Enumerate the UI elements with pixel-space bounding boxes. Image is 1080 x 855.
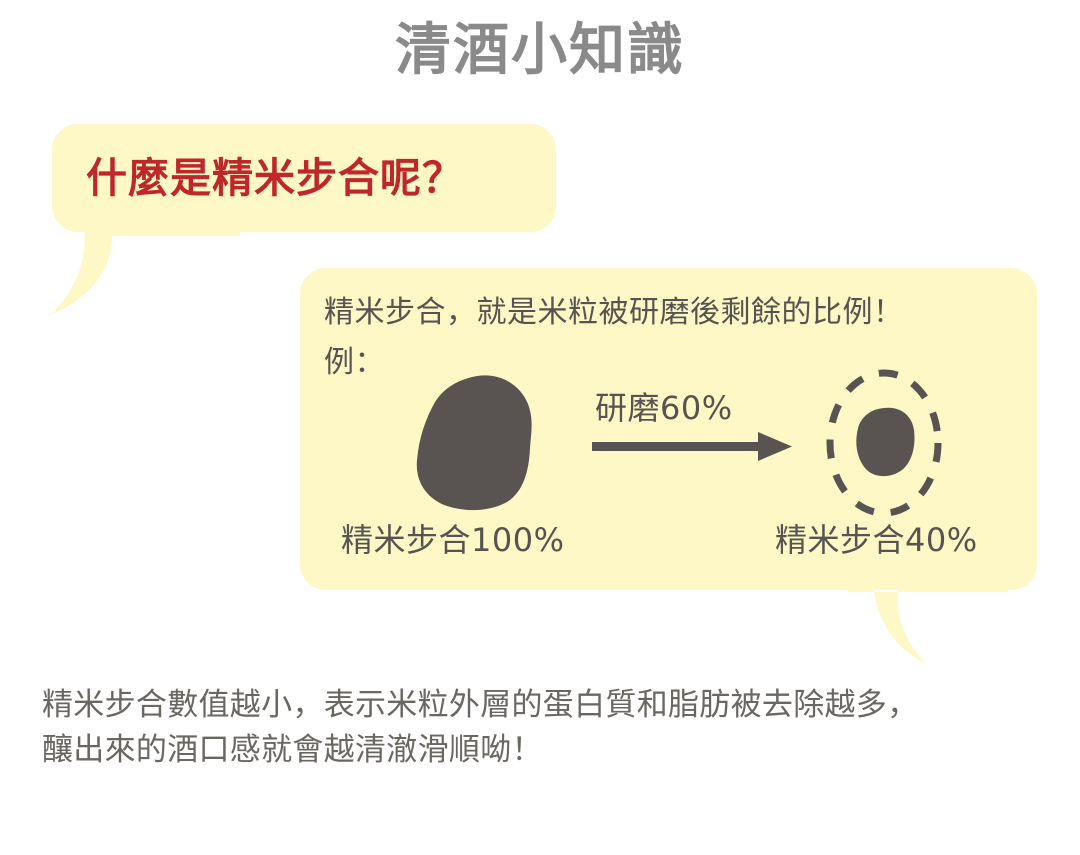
sake-knowledge-infographic: 清酒小知識 什麼是精米步合呢？ 精米步合，就是米粒被研磨後剩餘的比例！ 例： (0, 0, 1080, 855)
question-text: 什麼是精米步合呢？ (86, 146, 522, 210)
question-bubble: 什麼是精米步合呢？ (52, 124, 556, 232)
explain-line-1: 精米步合，就是米粒被研磨後剩餘的比例！ (324, 293, 904, 333)
arrow-label: 研磨60% (595, 388, 733, 428)
rice-grain-polished (856, 408, 914, 476)
footer-line-1: 精米步合數值越小，表示米粒外層的蛋白質和脂肪被去除越多， (42, 683, 1042, 728)
question-bubble-tail (50, 222, 240, 318)
rice-grain-whole (417, 375, 532, 510)
footer-line-2: 釀出來的酒口感就會越清澈滑順呦！ (42, 728, 1042, 773)
polish-arrow (592, 432, 792, 461)
page-title: 清酒小知識 (0, 16, 1080, 86)
grain-label-before: 精米步合100% (341, 520, 565, 560)
explain-bubble-tail (848, 580, 1008, 666)
grain-label-after: 精米步合40% (775, 520, 978, 560)
footer-paragraph: 精米步合數值越小，表示米粒外層的蛋白質和脂肪被去除越多， 釀出來的酒口感就會越清… (42, 683, 1042, 773)
